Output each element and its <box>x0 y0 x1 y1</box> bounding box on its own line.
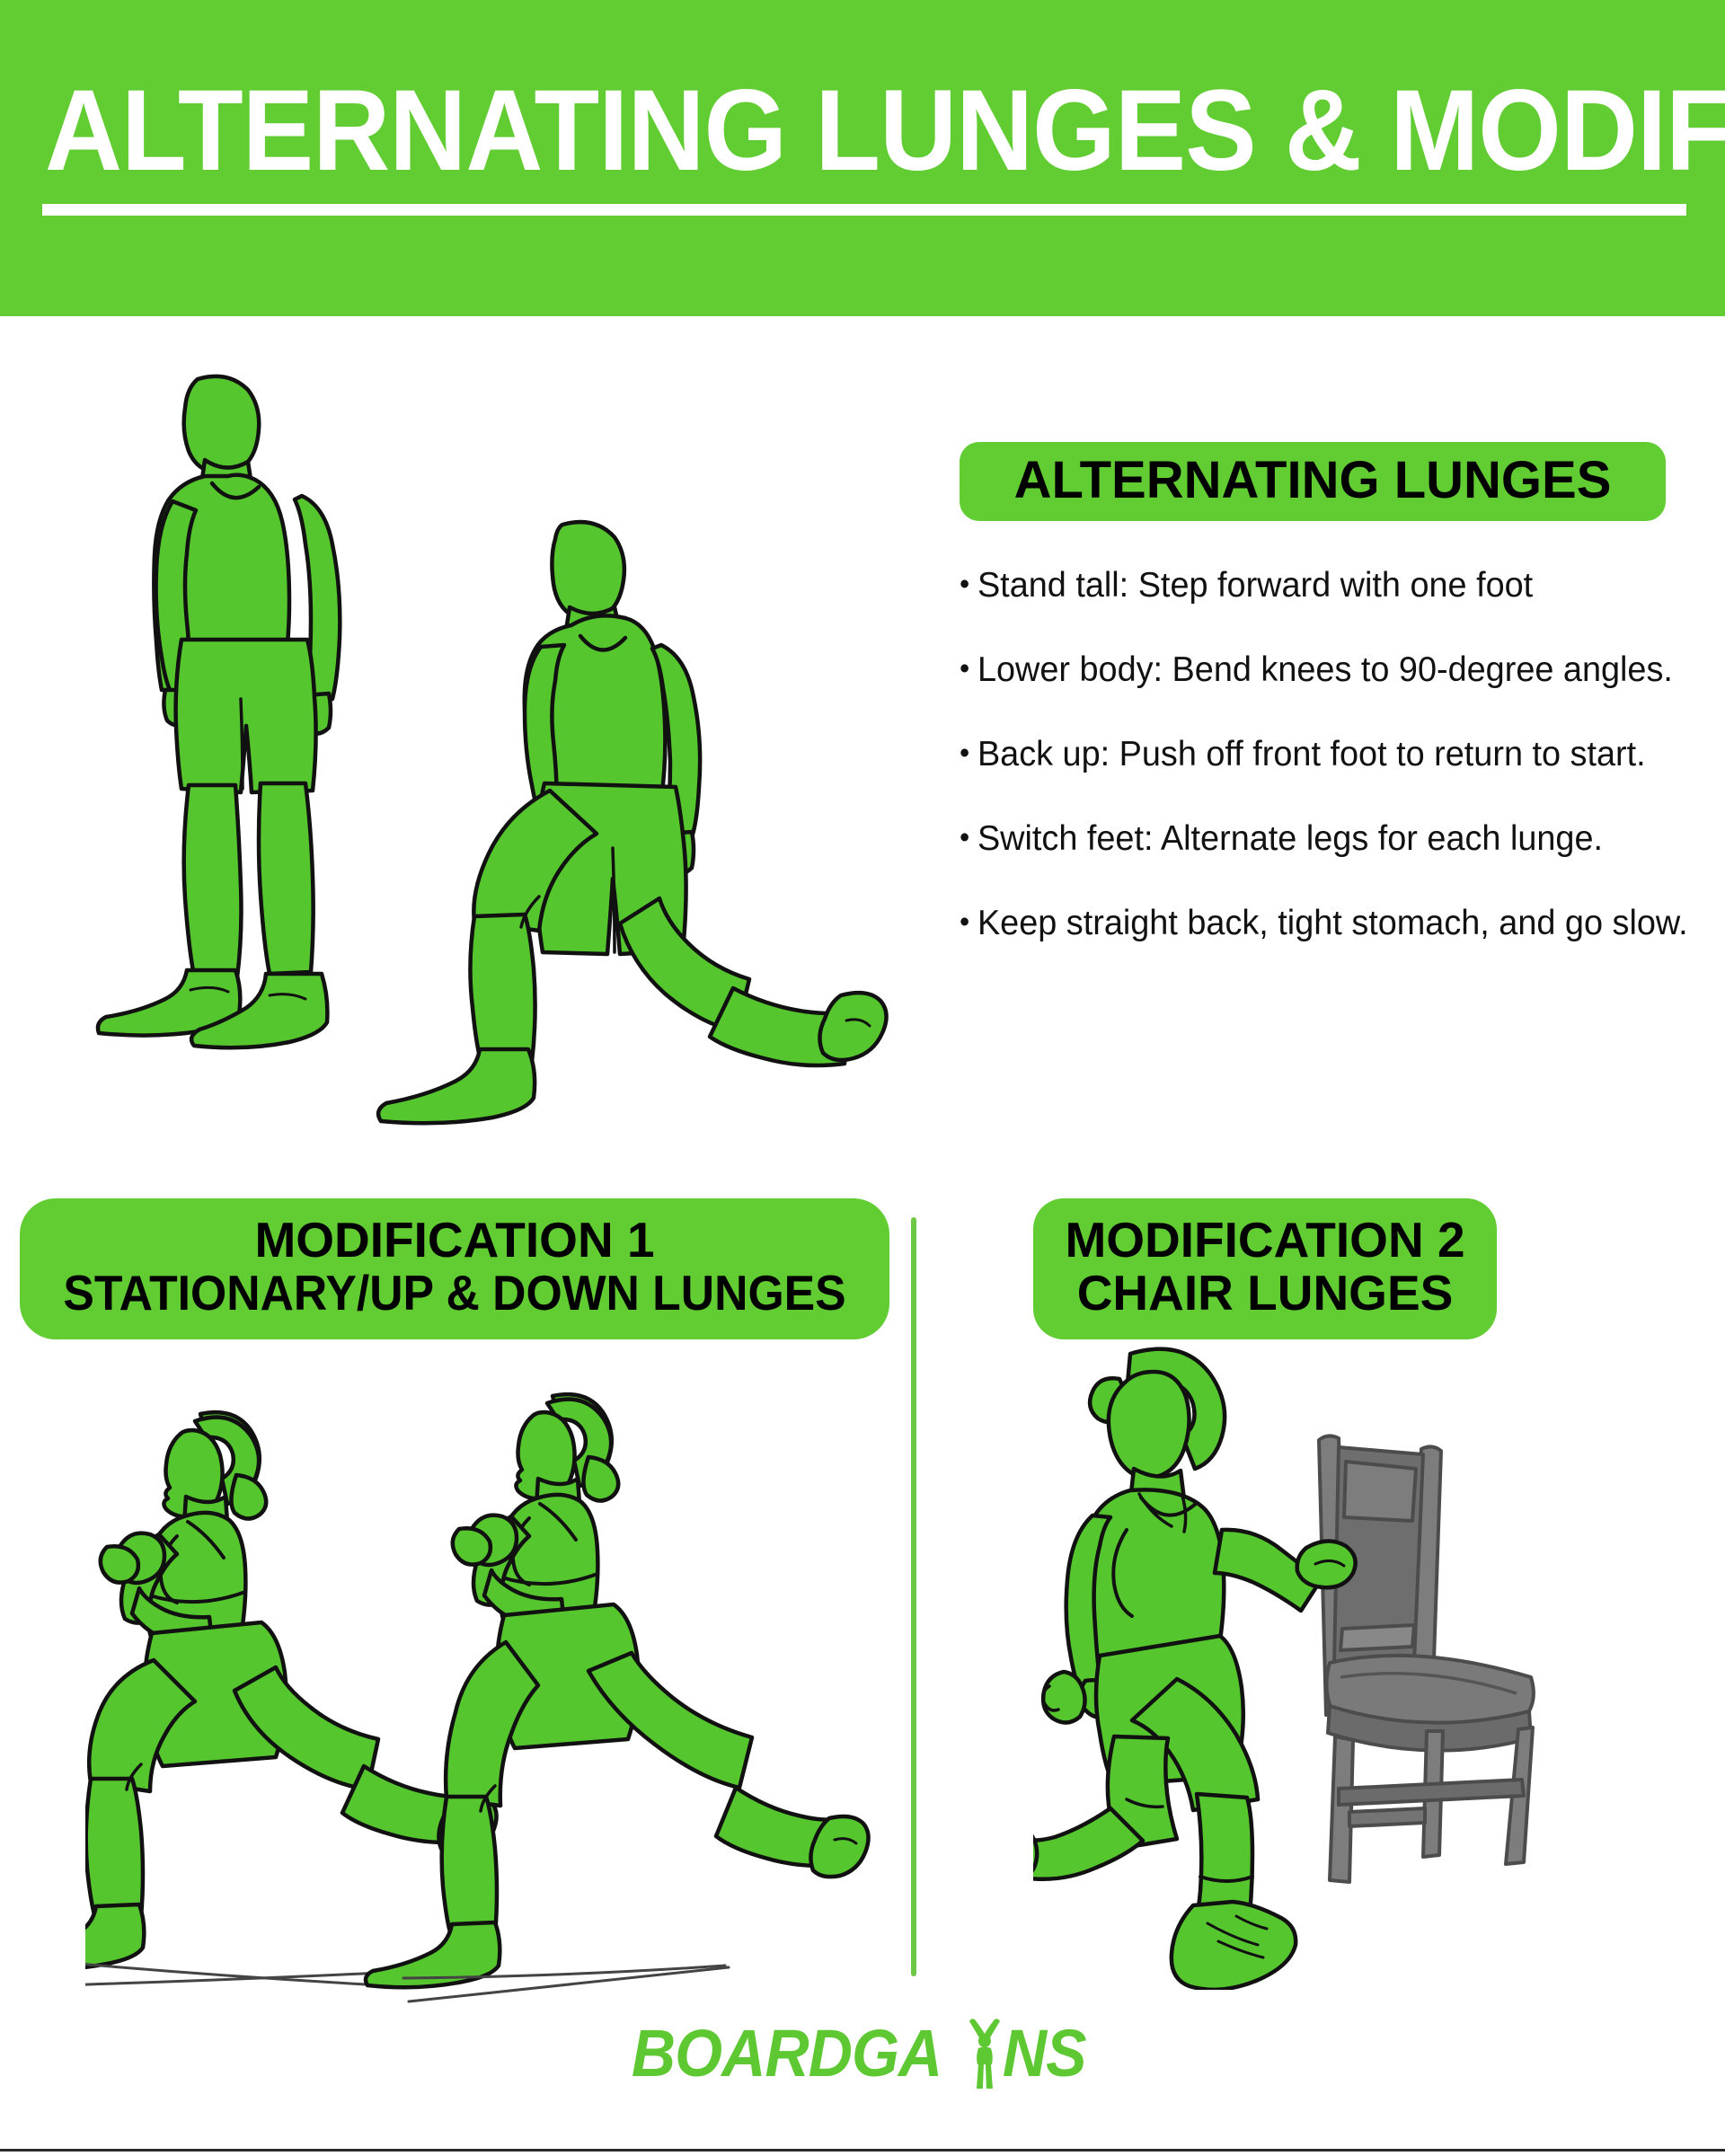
bullet-point-icon: • <box>960 653 969 683</box>
standing-male-figure <box>98 376 340 1047</box>
modification-2-title: MODIFICATION 2 <box>1033 1214 1497 1267</box>
modification-2-heading-pill: MODIFICATION 2 CHAIR LUNGES <box>1033 1198 1497 1339</box>
list-item: •Lower body: Bend knees to 90-degree ang… <box>960 652 1657 687</box>
title-underline <box>42 204 1686 216</box>
header-banner: ALTERNATING LUNGES & MODIFICATIONS <box>0 0 1725 316</box>
female-stationary-lunge-figure <box>85 1412 497 1985</box>
instruction-text: Keep straight back, tight stomach, and g… <box>977 904 1688 942</box>
instruction-text: Stand tall: Step forward with one foot <box>977 566 1533 605</box>
alternating-lunges-instruction-list: •Stand tall: Step forward with one foot … <box>960 568 1678 941</box>
main-exercise-text-panel: ALTERNATING LUNGES •Stand tall: Step for… <box>960 442 1678 990</box>
alternating-lunges-heading-pill: ALTERNATING LUNGES <box>960 442 1666 521</box>
modification-1-subtitle: STATIONARY/UP & DOWN LUNGES <box>46 1267 863 1320</box>
modification-1-heading-pill: MODIFICATION 1 STATIONARY/UP & DOWN LUNG… <box>20 1198 889 1339</box>
athlete-arms-raised-icon <box>965 2018 1004 2090</box>
logo-text-first: BOARDGA <box>632 2020 942 2087</box>
modifications-section: MODIFICATION 1 STATIONARY/UP & DOWN LUNG… <box>0 1177 1725 2021</box>
list-item: •Stand tall: Step forward with one foot <box>960 568 1657 603</box>
modification-2-illustration <box>1033 1343 1590 1990</box>
boardgains-logo: BOARDGA NS <box>632 2018 1093 2090</box>
instruction-text: Lower body: Bend knees to 90-degree angl… <box>977 650 1673 689</box>
modification-1-title: MODIFICATION 1 <box>20 1214 889 1267</box>
infographic-page: ALTERNATING LUNGES & MODIFICATIONS <box>0 0 1725 2156</box>
instruction-text: Switch feet: Alternate legs for each lun… <box>977 819 1603 858</box>
main-exercise-section: ALTERNATING LUNGES •Stand tall: Step for… <box>0 316 1725 1170</box>
footer-divider <box>0 2149 1725 2152</box>
list-item: •Keep straight back, tight stomach, and … <box>960 906 1657 941</box>
female-up-down-lunge-figure <box>366 1394 869 2001</box>
footer: BOARDGA NS <box>0 2012 1725 2156</box>
alternating-lunges-heading: ALTERNATING LUNGES <box>1014 451 1612 509</box>
bullet-point-icon: • <box>960 906 969 936</box>
female-chair-lunge-figure <box>1033 1349 1356 1990</box>
logo-text-second: NS <box>1003 2020 1086 2087</box>
modification-1-illustration <box>85 1383 876 2012</box>
bullet-point-icon: • <box>960 822 969 852</box>
chair-icon <box>1319 1436 1534 1882</box>
page-title: ALTERNATING LUNGES & MODIFICATIONS <box>45 74 1574 189</box>
lunging-male-figure <box>378 522 886 1123</box>
bullet-point-icon: • <box>960 738 969 767</box>
alternating-lunges-illustration <box>90 370 898 1134</box>
instruction-text: Back up: Push off front foot to return t… <box>977 735 1646 773</box>
section-divider <box>911 1217 916 1976</box>
list-item: •Switch feet: Alternate legs for each lu… <box>960 821 1657 856</box>
modification-2-subtitle: CHAIR LUNGES <box>1033 1267 1497 1320</box>
list-item: •Back up: Push off front foot to return … <box>960 737 1657 772</box>
bullet-point-icon: • <box>960 569 969 598</box>
